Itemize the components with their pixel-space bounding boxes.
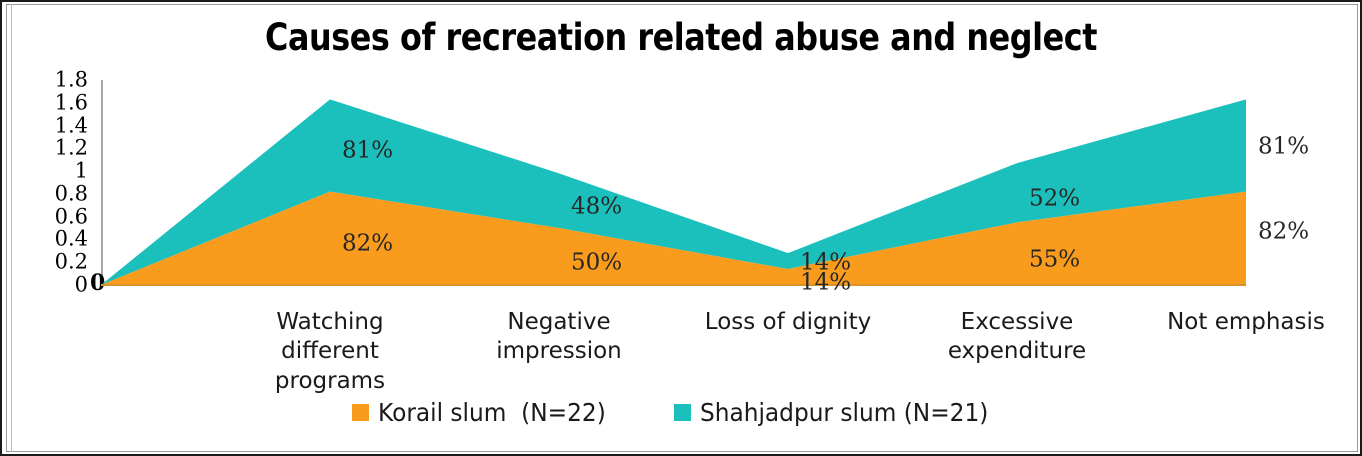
chart-legend: Korail slum (N=22)Shahjadpur slum (N=21) — [0, 400, 1362, 425]
x-category-label: Loss of dignity — [673, 308, 903, 337]
chart-screenshot: Causes of recreation related abuse and n… — [0, 0, 1362, 456]
legend-label: Shahjadpur slum (N=21) — [700, 400, 988, 425]
legend-label: Korail slum (N=22) — [378, 400, 606, 425]
legend-swatch-icon — [352, 404, 369, 421]
data-label-shahjadpur: 48% — [571, 195, 622, 218]
legend-swatch-icon — [674, 404, 691, 421]
x-category-label: Not emphasis — [1131, 308, 1361, 337]
data-label-shahjadpur: 81% — [342, 140, 393, 163]
data-label-korail: 82% — [342, 233, 393, 256]
data-label-korail: 14% — [800, 272, 851, 295]
x-category-label: Watching different programs — [215, 308, 445, 396]
x-axis-category-labels: Watching different programsNegative impr… — [0, 300, 1362, 390]
legend-item[interactable]: Shahjadpur slum (N=21) — [674, 400, 1010, 425]
data-label-korail: 82% — [1258, 220, 1309, 243]
data-label-korail: 55% — [1029, 248, 1080, 271]
data-label-korail: 50% — [571, 251, 622, 274]
legend-item[interactable]: Korail slum (N=22) — [352, 400, 623, 425]
data-label-shahjadpur: 81% — [1258, 136, 1309, 159]
x-category-label: Negative impression — [444, 308, 674, 367]
plot-area: 1.81.61.41.210.80.60.40.20 0 81%82%48%50… — [0, 0, 1362, 456]
data-label-shahjadpur: 52% — [1029, 187, 1080, 210]
x-category-label: Excessive expenditure — [902, 308, 1132, 367]
